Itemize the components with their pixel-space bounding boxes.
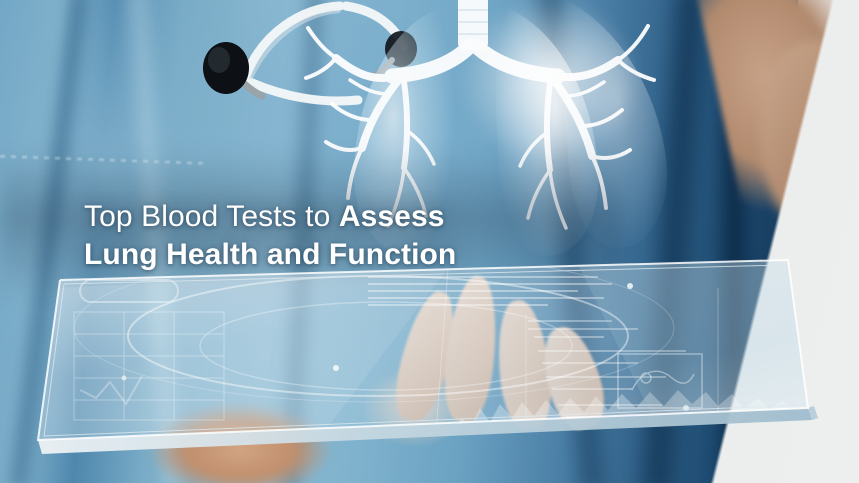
headline-line-1: Top Blood Tests to Assess: [84, 198, 456, 236]
headline-line-1-bold: Assess: [339, 200, 445, 233]
hero-banner: Top Blood Tests to Assess Lung Health an…: [0, 0, 859, 483]
headline-line-1-regular: Top Blood Tests to: [84, 200, 339, 233]
glass-tablet[interactable]: [18, 258, 818, 473]
